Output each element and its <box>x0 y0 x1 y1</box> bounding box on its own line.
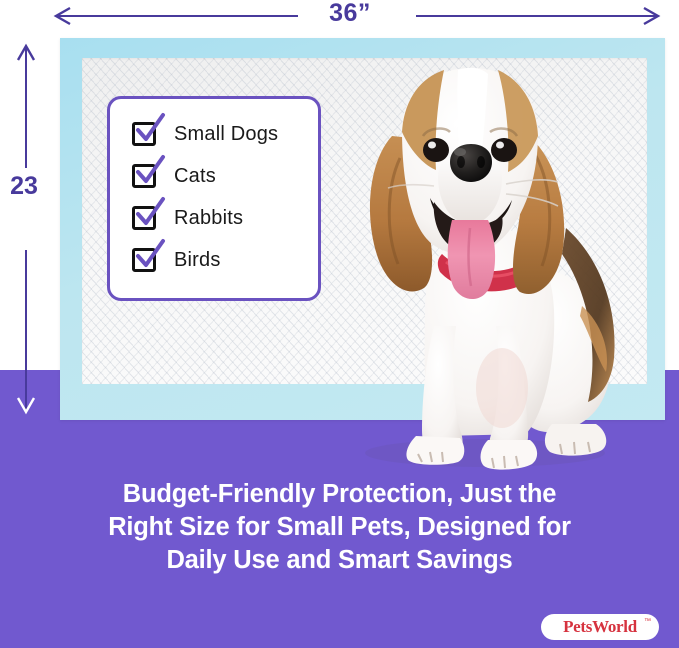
checklist-item-label: Small Dogs <box>174 123 278 146</box>
width-dimension-label: 36” <box>310 0 390 28</box>
height-dimension-arrow <box>6 38 46 420</box>
marketing-headline: Budget-Friendly Protection, Just the Rig… <box>30 478 649 577</box>
checklist-item-label: Birds <box>174 249 221 272</box>
brand-logo: PetsWorld ™ <box>541 614 659 640</box>
trademark-symbol: ™ <box>644 618 651 625</box>
headline-line-1: Budget-Friendly Protection, Just the <box>30 478 649 511</box>
checklist-item[interactable]: Small Dogs <box>132 113 318 155</box>
checklist-item-label: Rabbits <box>174 207 243 230</box>
checklist-item[interactable]: Cats <box>132 155 318 197</box>
height-dimension-label: 23 <box>2 172 46 201</box>
headline-line-3: Daily Use and Smart Savings <box>30 544 649 577</box>
beagle-dog-photo <box>330 58 630 470</box>
product-infographic: 36” 23 Small Dogs Cats <box>0 0 679 648</box>
checklist-item[interactable]: Rabbits <box>132 197 318 239</box>
checkbox-icon[interactable] <box>132 206 156 230</box>
checkbox-icon[interactable] <box>132 248 156 272</box>
brand-logo-text: PetsWorld <box>563 617 637 637</box>
headline-line-2: Right Size for Small Pets, Designed for <box>30 511 649 544</box>
suitable-pets-checklist: Small Dogs Cats Rabbits <box>107 96 321 301</box>
checkbox-icon[interactable] <box>132 122 156 146</box>
checklist-item[interactable]: Birds <box>132 239 318 281</box>
checklist-item-label: Cats <box>174 165 216 188</box>
checkbox-icon[interactable] <box>132 164 156 188</box>
